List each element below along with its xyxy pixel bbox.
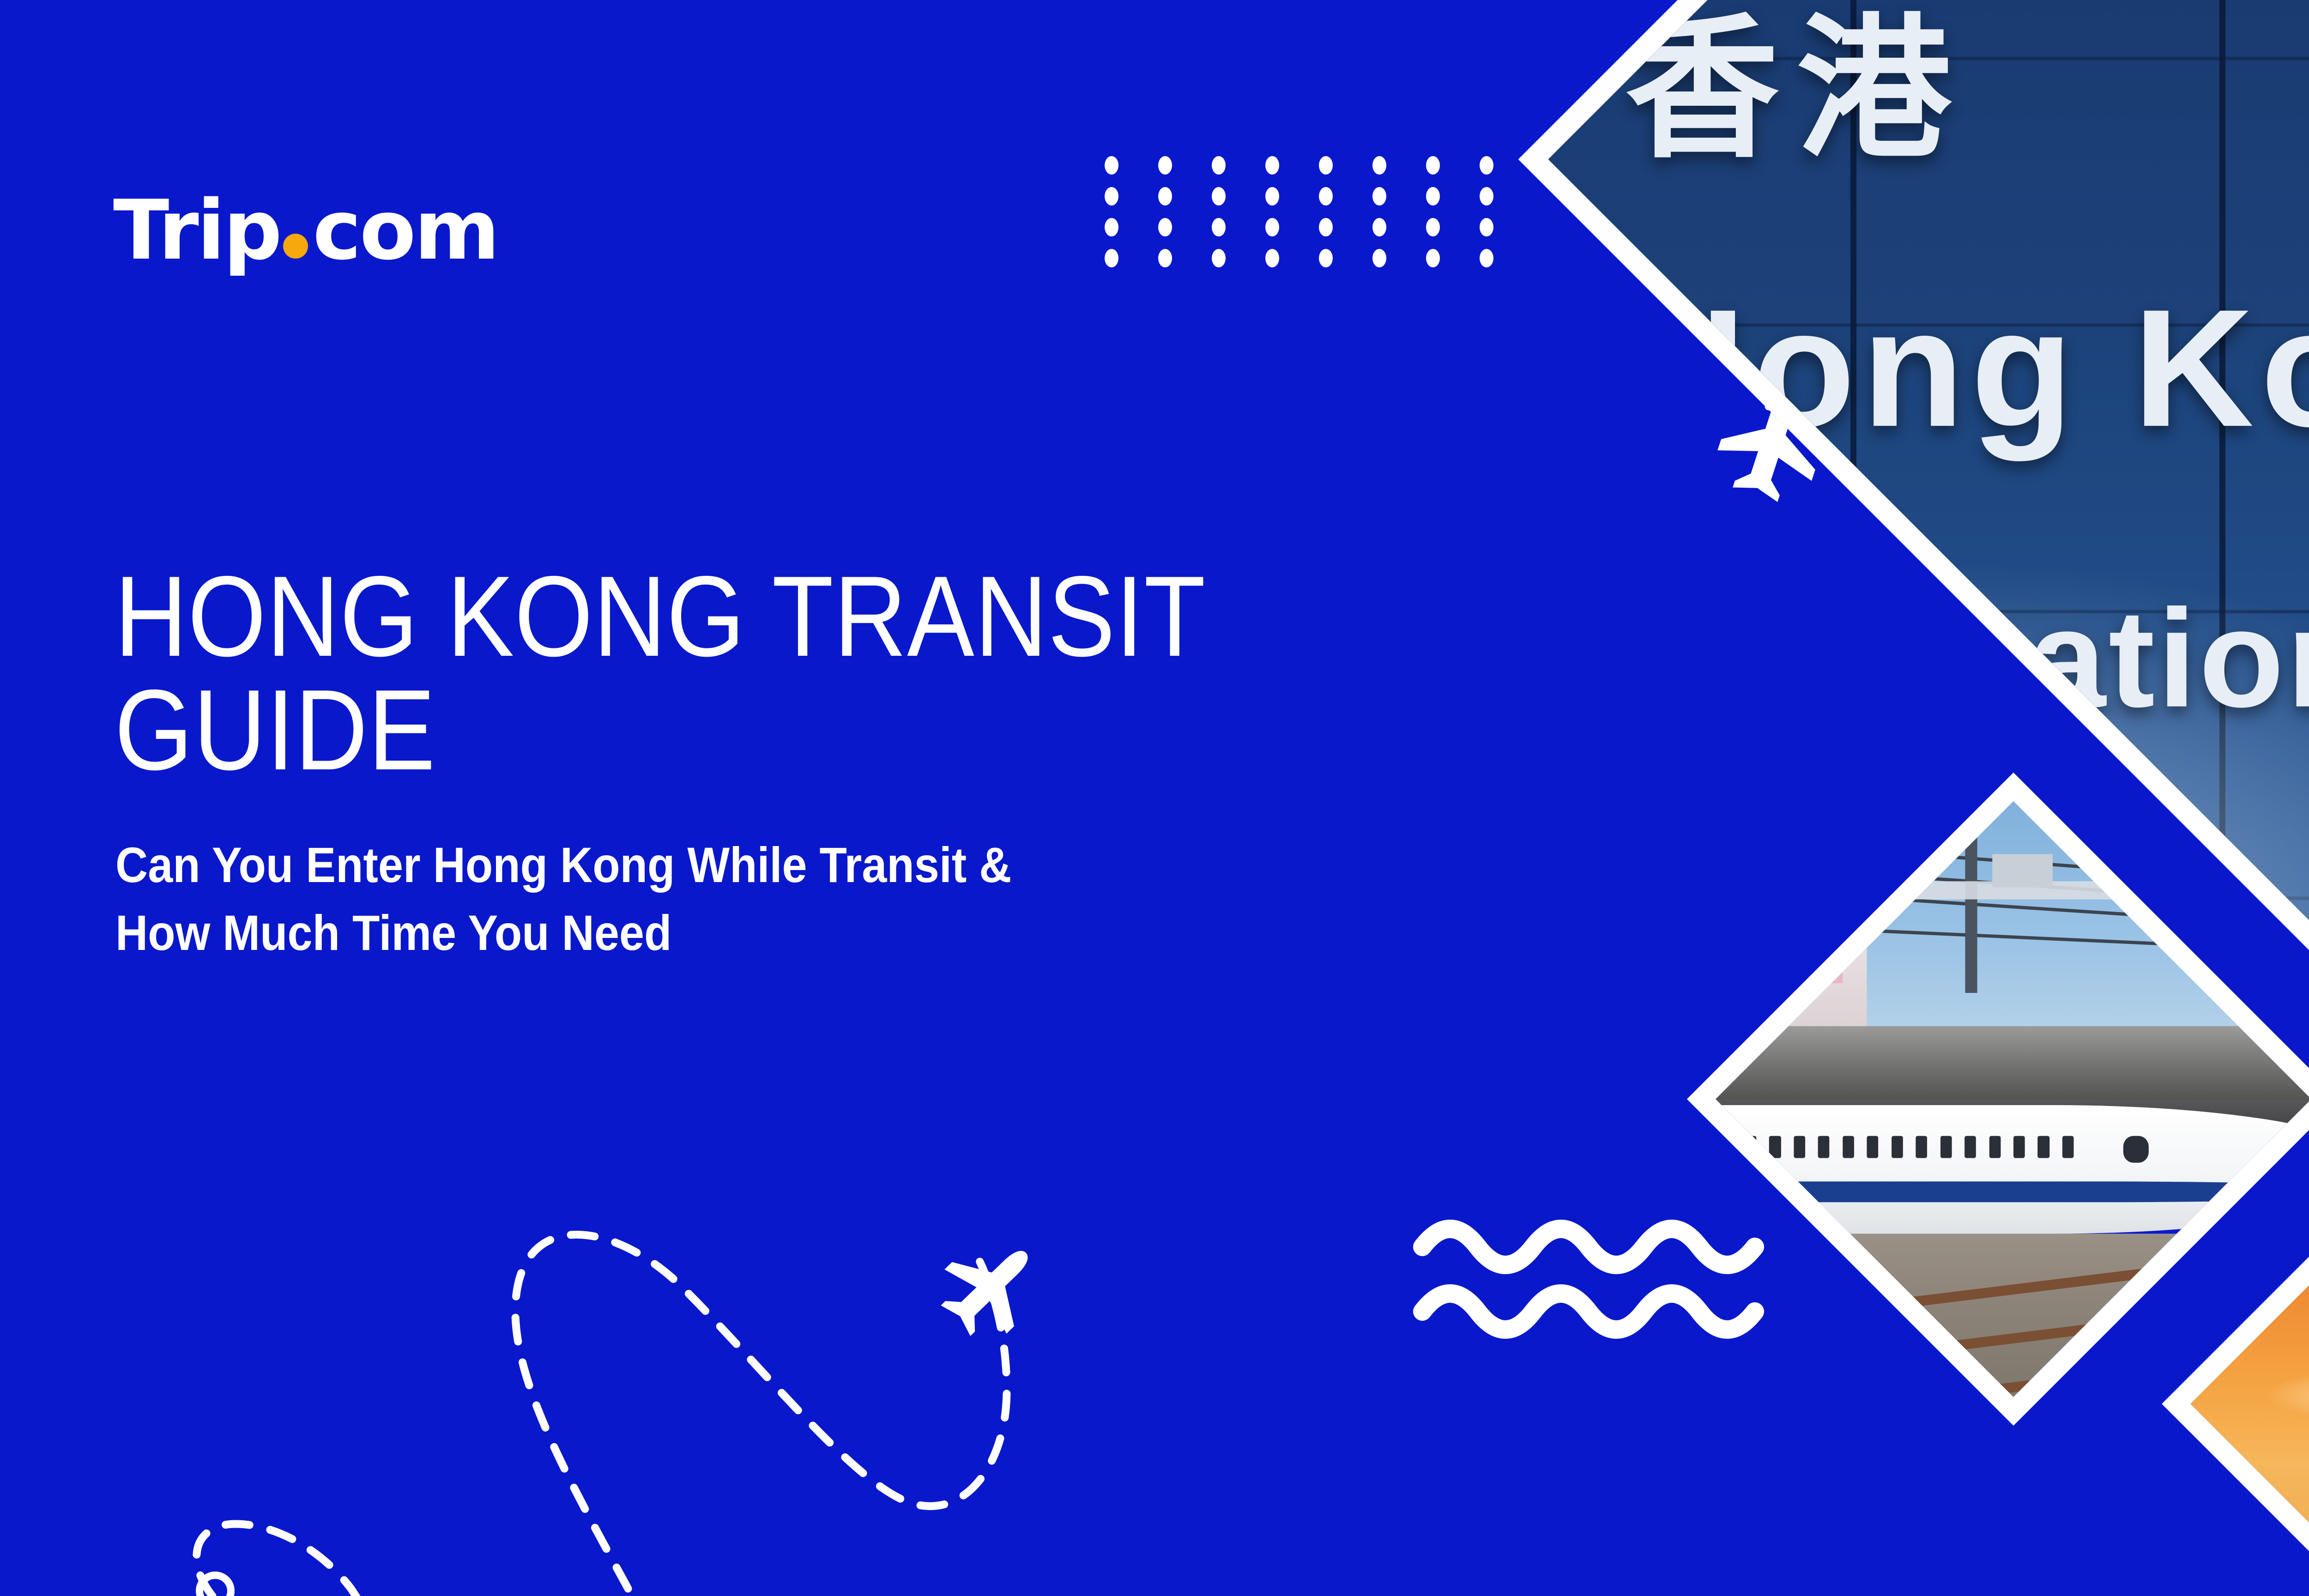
- photo-shinkansen-train: [1687, 773, 2309, 1426]
- train-body: [1687, 1105, 2309, 1233]
- dashed-loop-icon: [197, 1524, 383, 1596]
- airplane-icon: [925, 1221, 1057, 1353]
- dot-grid-row: [1105, 156, 1493, 175]
- dot-grid-icon: [1105, 156, 1493, 280]
- platform-canopy: [1708, 1026, 2309, 1105]
- left-wing: [2200, 1553, 2309, 1596]
- dot-grid-row: [1105, 187, 1493, 206]
- dot-grid-row: [1105, 218, 1493, 236]
- dashed-flight-path-icon: [515, 1234, 1007, 1589]
- logo-text-trip: Trip: [113, 189, 280, 272]
- dashed-loop-node-icon: [199, 1575, 231, 1596]
- train-stripe: [1687, 1182, 2309, 1203]
- airport-sign-chinese: 香港: [1626, 0, 2309, 188]
- dot-grid-row: [1105, 249, 1493, 267]
- hero-banner: Trip com HONG KONG TRANSIT GUIDE Can You…: [0, 0, 2309, 1596]
- logo-text-com: com: [313, 189, 498, 272]
- trip-com-logo[interactable]: Trip com: [113, 189, 498, 272]
- airport-sign-line1: Hong Kong: [1626, 272, 2309, 464]
- airport-sign-line2: International Airport: [1626, 579, 2309, 739]
- billboard: [1745, 898, 1843, 983]
- wave-lines-icon: [1422, 1229, 1755, 1330]
- page-subtitle: Can You Enter Hong Kong While Transit & …: [115, 831, 1362, 967]
- orange-dot-icon: [283, 234, 308, 259]
- page-title: HONG KONG TRANSIT GUIDE: [115, 560, 1374, 786]
